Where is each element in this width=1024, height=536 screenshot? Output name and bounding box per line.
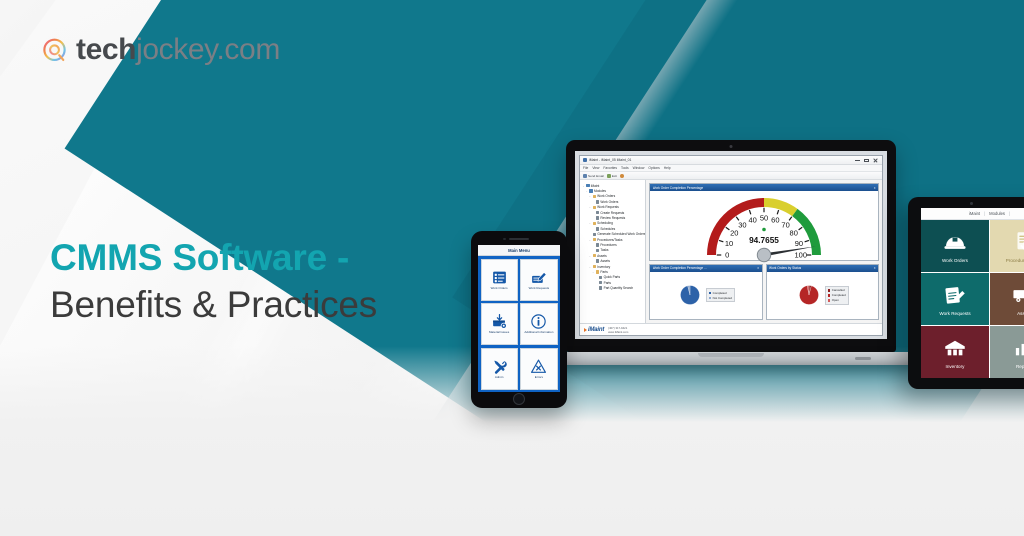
pie-chart-status bbox=[796, 282, 822, 308]
chart-icon bbox=[1011, 335, 1024, 361]
tablet-tile-work-orders[interactable]: Work Orders bbox=[921, 220, 989, 272]
minimize-icon[interactable] bbox=[855, 158, 860, 163]
legend-item: Cancelled bbox=[828, 288, 846, 292]
tree-node-icon bbox=[596, 243, 599, 246]
tablet-tile-label: Assets bbox=[1017, 311, 1024, 316]
dashboard-area: Work Order Completion Percentage x 01020… bbox=[646, 180, 882, 323]
gauge-tick bbox=[805, 241, 809, 242]
camera-icon bbox=[503, 238, 506, 241]
exit-icon bbox=[607, 174, 611, 178]
tree-expander-icon[interactable]: - bbox=[588, 194, 591, 198]
gauge-tick-label: 40 bbox=[748, 216, 756, 225]
tree-expander-icon[interactable]: - bbox=[588, 238, 591, 242]
imaint-logo: iMaint bbox=[584, 327, 604, 333]
menu-item-help[interactable]: Help bbox=[664, 166, 671, 170]
tree-node-icon bbox=[596, 270, 599, 273]
tree-node-icon bbox=[589, 189, 592, 192]
phone-tile-label: Admin bbox=[494, 376, 505, 379]
pie-panel-completion: Work Order Completion Percentage ... x C… bbox=[649, 264, 763, 320]
gauge-band bbox=[707, 198, 764, 255]
speaker-icon bbox=[509, 238, 529, 240]
panel-body: CompletedNot Completed bbox=[650, 272, 762, 319]
gauge-tick-label: 90 bbox=[795, 239, 803, 248]
laptop-base bbox=[545, 352, 917, 365]
tree-expander-icon[interactable]: - bbox=[585, 189, 588, 193]
tree-node-icon bbox=[596, 200, 599, 203]
phone-tile-label: Errors bbox=[534, 376, 544, 379]
gauge-tick bbox=[777, 210, 778, 214]
gauge-value-label: 94.7655 bbox=[749, 236, 779, 245]
tablet-tile-label: Reports bbox=[1016, 364, 1024, 369]
tree-expander-icon[interactable]: - bbox=[592, 270, 595, 274]
legend-label: Completed bbox=[832, 293, 846, 297]
legend-swatch bbox=[828, 299, 831, 302]
phone-mockup: Main Menu bbox=[471, 231, 567, 408]
window-controls bbox=[855, 158, 879, 163]
phone-tile-label: Material Issues bbox=[488, 331, 510, 334]
close-icon[interactable]: x bbox=[874, 186, 876, 190]
tablet-tile-reports[interactable]: Reports bbox=[990, 326, 1024, 378]
footer-email: www.iMaint.com bbox=[608, 330, 628, 334]
tablet-tile-grid: Work Orders Procedures bbox=[921, 220, 1024, 378]
gauge-tick-label: 50 bbox=[760, 214, 768, 223]
breadcrumb-separator: | bbox=[984, 211, 985, 216]
legend-swatch bbox=[828, 294, 831, 297]
clipboard-pencil-icon bbox=[942, 282, 968, 308]
logo-text-bold: tech bbox=[76, 33, 136, 66]
toolbar: Send Email Exit bbox=[580, 172, 882, 180]
window-titlebar: iMaint - iMaint_05 iMaint_01 bbox=[580, 156, 882, 165]
legend-swatch bbox=[828, 289, 831, 292]
gauge-tick bbox=[799, 228, 803, 231]
tree-item-label: Assets bbox=[597, 254, 607, 258]
legend-swatch bbox=[709, 297, 712, 300]
tablet-tile-assets[interactable]: Assets bbox=[990, 273, 1024, 325]
warning-triangle-icon bbox=[530, 358, 547, 375]
document-download-icon bbox=[1011, 229, 1024, 255]
menu-item-window[interactable]: Window bbox=[633, 166, 645, 170]
gauge-tick-label: 60 bbox=[771, 216, 779, 225]
phone-tile-work-orders[interactable]: Work Orders bbox=[481, 259, 518, 301]
window-body: -iMaint-Modules-Work OrdersWork Orders-W… bbox=[580, 180, 882, 323]
gauge-tick-label: 30 bbox=[738, 221, 746, 230]
close-icon[interactable]: x bbox=[874, 266, 876, 270]
tree-item-label: Part Quantity Search bbox=[604, 286, 634, 290]
headline-line-1: CMMS Software - bbox=[50, 236, 377, 280]
tree-item-label: Review Requests bbox=[600, 216, 625, 220]
menu-item-options[interactable]: Options bbox=[648, 166, 659, 170]
toolbar-button-exit[interactable]: Exit bbox=[607, 174, 617, 178]
tablet-tile-label: Procedures/Tasks bbox=[1006, 258, 1024, 263]
phone-tile-label: Work Orders bbox=[490, 287, 509, 290]
hard-hat-icon bbox=[942, 229, 968, 255]
legend-label: Cancelled bbox=[832, 288, 845, 292]
tree-node-icon bbox=[593, 265, 596, 268]
pie-panel-status: Work Orders by Status x CancelledComplet… bbox=[766, 264, 880, 320]
tablet-tile-label: Work Requests bbox=[939, 311, 970, 316]
tree-node-icon bbox=[596, 211, 599, 214]
camera-icon bbox=[730, 145, 733, 148]
phone-tile-admin[interactable]: Admin bbox=[481, 348, 518, 390]
phone-tile-errors[interactable]: Errors bbox=[520, 348, 557, 390]
toolbar-label: Send Email bbox=[588, 174, 604, 178]
laptop-notch bbox=[698, 353, 764, 357]
checklist-icon bbox=[491, 269, 508, 286]
pencil-document-icon bbox=[530, 269, 547, 286]
tree-item-label: Assets bbox=[600, 259, 610, 263]
tree-node-icon bbox=[586, 184, 589, 187]
page-title: CMMS Software - Benefits & Practices bbox=[50, 236, 377, 326]
truck-icon bbox=[1011, 282, 1024, 308]
tree-expander-icon[interactable]: - bbox=[588, 221, 591, 225]
pie-chart-completion bbox=[677, 282, 703, 308]
laptop-lid: iMaint - iMaint_05 iMaint_01 File View F… bbox=[566, 140, 896, 352]
close-icon[interactable] bbox=[873, 158, 878, 163]
tree-item-label: Inventory bbox=[597, 265, 610, 269]
menu-item-view[interactable]: View bbox=[592, 166, 599, 170]
gauge-tick-label: 80 bbox=[790, 229, 798, 238]
hero-banner: techjockey.com CMMS Software - Benefits … bbox=[0, 0, 1024, 536]
gauge-band bbox=[764, 198, 798, 216]
tree-expander-icon[interactable]: - bbox=[582, 184, 585, 188]
tree-node-icon bbox=[593, 206, 596, 209]
gauge-tick bbox=[726, 228, 730, 231]
gauge-tick-label: 20 bbox=[730, 229, 738, 238]
tree-item-label: Procedures/Tasks bbox=[597, 238, 622, 242]
pie-legend-completion: CompletedNot Completed bbox=[706, 288, 735, 302]
tree-node-icon bbox=[593, 238, 596, 241]
info-circle-icon bbox=[530, 313, 547, 330]
legend-label: Completed bbox=[713, 291, 727, 295]
tools-icon bbox=[491, 358, 508, 375]
tree-node-icon bbox=[593, 233, 596, 236]
tree-item-label: Parts bbox=[600, 270, 607, 274]
camera-icon bbox=[970, 202, 973, 205]
tree-expander-icon[interactable]: - bbox=[588, 205, 591, 209]
breadcrumb: iMaint | Modules | bbox=[921, 208, 1024, 220]
envelope-icon bbox=[583, 174, 587, 178]
phone-screen: Main Menu bbox=[478, 245, 560, 392]
tree-item-label: iMaint bbox=[591, 184, 600, 188]
gauge-tick-label: 0 bbox=[725, 251, 729, 260]
gauge-panel: Work Order Completion Percentage x 01020… bbox=[649, 183, 879, 261]
headline-line-2: Benefits & Practices bbox=[50, 283, 377, 327]
phone-tile-material-issues[interactable]: Material Issues bbox=[481, 303, 518, 345]
tree-node-icon bbox=[596, 216, 599, 219]
phone-tile-information[interactable]: Additional Information bbox=[520, 303, 557, 345]
tree-item-label: Schedules bbox=[600, 227, 615, 231]
tree-item-label: Procedures bbox=[600, 243, 616, 247]
pie-legend-status: CancelledCompletedOpen bbox=[825, 286, 849, 305]
tree-item[interactable]: Part Quantity Search bbox=[582, 285, 643, 290]
tree-item-label: Parts bbox=[604, 281, 611, 285]
legend-label: Open bbox=[832, 298, 839, 302]
tree-item-label: Work Orders bbox=[597, 194, 615, 198]
gauge-chart: 010203040506070809010094.7655 bbox=[650, 191, 878, 260]
phone-tile-label: Work Requests bbox=[528, 287, 550, 290]
footer-contact: (407) 317-9421 www.iMaint.com bbox=[608, 326, 628, 334]
logo-wordmark: techjockey.com bbox=[76, 33, 280, 67]
app-icon bbox=[583, 158, 587, 162]
legend-item: Completed bbox=[709, 291, 732, 295]
tablet-tile-procedures[interactable]: Procedures/Tasks bbox=[990, 220, 1024, 272]
tree-node-icon bbox=[599, 286, 602, 289]
gauge-hub bbox=[757, 249, 771, 263]
breadcrumb-item-modules[interactable]: Modules bbox=[989, 211, 1005, 216]
gauge-tick-label: 70 bbox=[781, 221, 789, 230]
phone-tile-work-requests[interactable]: Work Requests bbox=[520, 259, 557, 301]
tree-item-label: Scheduling bbox=[597, 221, 613, 225]
home-button[interactable] bbox=[513, 393, 525, 405]
legend-swatch bbox=[709, 292, 712, 295]
breadcrumb-item-imaint[interactable]: iMaint bbox=[969, 211, 980, 216]
box-gear-icon bbox=[491, 313, 508, 330]
toolbar-label: Exit bbox=[612, 174, 617, 178]
laptop-screen: iMaint - iMaint_05 iMaint_01 File View F… bbox=[575, 151, 887, 339]
laptop-base-detail bbox=[855, 357, 871, 360]
warehouse-icon bbox=[942, 335, 968, 361]
phone-title-bar: Main Menu bbox=[478, 245, 560, 256]
tablet-tile-inventory[interactable]: Inventory bbox=[921, 326, 989, 378]
menu-item-favorites[interactable]: Favorites bbox=[603, 166, 617, 170]
tree-node-icon bbox=[593, 195, 596, 198]
panel-body: CancelledCompletedOpen bbox=[767, 272, 879, 319]
tree-item-label: Work Requests bbox=[597, 205, 619, 209]
tree-node-icon bbox=[599, 276, 602, 279]
tree-expander-icon[interactable]: - bbox=[588, 254, 591, 258]
tablet-tile-label: Inventory bbox=[946, 364, 965, 369]
logo-text-light: jockey.com bbox=[136, 33, 280, 66]
menu-bar: File View Favorites Tools Window Options… bbox=[580, 165, 882, 172]
tree-node-icon bbox=[593, 254, 596, 257]
tablet-tile-label: Work Orders bbox=[942, 258, 968, 263]
gauge-tick bbox=[719, 241, 723, 242]
tree-item-label: Generate Scheduled Work Orders bbox=[597, 232, 645, 236]
toolbar-button-help[interactable] bbox=[620, 174, 624, 178]
toolbar-button-send-email[interactable]: Send Email bbox=[583, 174, 604, 178]
panel-body: 010203040506070809010094.7655 bbox=[650, 191, 878, 260]
menu-item-file[interactable]: File bbox=[583, 166, 588, 170]
tree-node-icon bbox=[596, 259, 599, 262]
tree-item-label: Work Orders bbox=[600, 200, 618, 204]
gauge-tick-label: 100 bbox=[794, 251, 807, 260]
tree-expander-icon[interactable]: - bbox=[588, 265, 591, 269]
help-icon bbox=[620, 174, 624, 178]
site-logo[interactable]: techjockey.com bbox=[41, 33, 280, 67]
phone-tile-grid: Work Orders Work Reque bbox=[478, 256, 560, 392]
phone-title-text: Main Menu bbox=[508, 248, 530, 253]
imaint-wordmark: iMaint bbox=[588, 327, 604, 333]
gauge-marker bbox=[762, 228, 766, 232]
tree-item-label: Tasks bbox=[600, 248, 608, 252]
legend-label: Not Completed bbox=[713, 296, 732, 300]
tree-node-icon bbox=[593, 222, 596, 225]
tree-item-label: Create Requests bbox=[600, 211, 624, 215]
tree-node-icon bbox=[596, 249, 599, 252]
arrow-icon bbox=[584, 328, 587, 332]
tablet-screen: iMaint | Modules | Wo bbox=[921, 208, 1024, 378]
window-title: iMaint - iMaint_05 iMaint_01 bbox=[589, 158, 631, 162]
phone-tile-label: Additional Information bbox=[523, 331, 554, 334]
gauge-tick bbox=[749, 210, 750, 214]
legend-item: Completed bbox=[828, 293, 846, 297]
maximize-icon[interactable] bbox=[864, 158, 869, 163]
application-footer: iMaint (407) 317-9421 www.iMaint.com bbox=[580, 323, 882, 335]
navigation-tree[interactable]: -iMaint-Modules-Work OrdersWork Orders-W… bbox=[580, 180, 646, 323]
tree-node-icon bbox=[596, 227, 599, 230]
techjockey-at-circle-icon bbox=[41, 37, 68, 64]
tree-item-label: Modules bbox=[594, 189, 606, 193]
laptop-mockup: iMaint - iMaint_05 iMaint_01 File View F… bbox=[566, 140, 896, 365]
application-window: iMaint - iMaint_05 iMaint_01 File View F… bbox=[579, 155, 883, 336]
tablet-mockup: iMaint | Modules | Wo bbox=[908, 197, 1024, 389]
legend-item: Open bbox=[828, 298, 846, 302]
pie-panels-row: Work Order Completion Percentage ... x C… bbox=[649, 264, 879, 320]
breadcrumb-separator: | bbox=[1009, 211, 1010, 216]
gauge-tick-label: 10 bbox=[725, 239, 733, 248]
tablet-tile-work-requests[interactable]: Work Requests bbox=[921, 273, 989, 325]
tree-node-icon bbox=[599, 281, 602, 284]
menu-item-tools[interactable]: Tools bbox=[621, 166, 629, 170]
tree-item-label: Quick Parts bbox=[604, 275, 620, 279]
legend-item: Not Completed bbox=[709, 296, 732, 300]
